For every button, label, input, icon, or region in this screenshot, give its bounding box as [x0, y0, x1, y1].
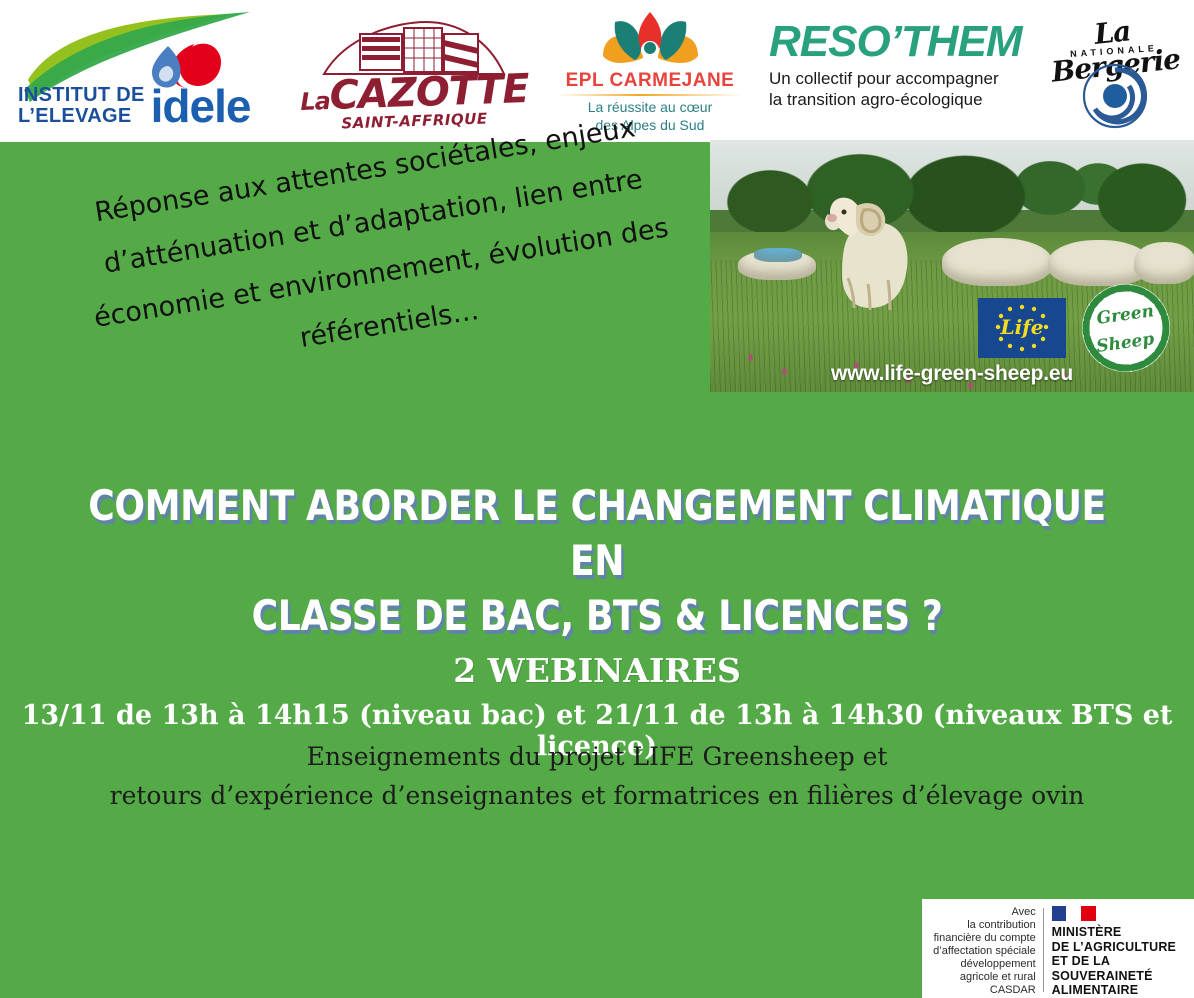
- idele-word: idele: [151, 85, 251, 127]
- idele-institute-line1: INSTITUT DE: [18, 85, 145, 106]
- sheep-background-right2: [1134, 242, 1194, 284]
- eu-life-label: Life: [1000, 315, 1044, 339]
- casdar-line-1: Avec: [922, 906, 1036, 919]
- casdar-line-4: d’affectation spéciale: [922, 945, 1036, 958]
- sheep-background-mid: [942, 238, 1052, 286]
- description-line-1: Enseignements du projet LIFE Greensheep …: [0, 742, 1194, 771]
- eu-stars-icon: Life: [978, 298, 1066, 358]
- french-flag-icon: [1052, 906, 1096, 921]
- casdar-line-6: agricole et rural: [922, 971, 1036, 984]
- intro-text-block: Réponse aux attentes sociétales, enjeux …: [40, 196, 690, 396]
- resothem-title: RESO’THEM: [769, 18, 1024, 66]
- description-line-2: retours d’expérience d’enseignantes et f…: [0, 781, 1194, 810]
- ministry-funding-block: Avec la contribution financière du compt…: [922, 899, 1194, 998]
- flag-band-red: [1081, 906, 1096, 921]
- ministry-name-line-1: MINISTÈRE: [1052, 925, 1194, 940]
- main-title: COMMENT ABORDER LE CHANGEMENT CLIMATIQUE…: [84, 478, 1111, 643]
- ministry-identity: MINISTÈRE DE L’AGRICULTURE ET DE LA SOUV…: [1044, 906, 1194, 998]
- ministry-name-line-3: ET DE LA SOUVERAINETÉ: [1052, 954, 1194, 983]
- idele-institute-line2: L’ELEVAGE: [18, 106, 145, 127]
- green-sheep-logo: Green Sheep: [1082, 284, 1170, 372]
- resothem-subtitle-line1: Un collectif pour accompagner: [769, 68, 1027, 89]
- logo-idele: INSTITUT DE L’ELEVAGE idele: [0, 0, 286, 142]
- casdar-line-2: la contribution: [922, 919, 1036, 932]
- logo-la-bergerie-nationale: La Bergerie NATIONALE: [1029, 0, 1194, 142]
- eu-life-logo: Life: [978, 298, 1066, 358]
- main-title-line-1: COMMENT ABORDER LE CHANGEMENT CLIMATIQUE…: [84, 478, 1111, 588]
- casdar-credit: Avec la contribution financière du compt…: [922, 906, 1043, 997]
- cazotte-prefix: La: [300, 87, 330, 116]
- logo-la-cazotte: LaCAZOTTE SAINT-AFFRIQUE: [286, 0, 541, 142]
- ram-illustration: [820, 192, 930, 317]
- idele-wordmark: INSTITUT DE L’ELEVAGE idele: [18, 85, 250, 127]
- sheep-pasture-photo: Life Green Sheep www.life-green-sheep.eu: [710, 140, 1194, 392]
- casdar-line-5: développement: [922, 958, 1036, 971]
- flag-band-white: [1066, 906, 1081, 921]
- logo-reso-them: RESO’THEM Un collectif pour accompagner …: [759, 0, 1029, 142]
- main-title-line-2: CLASSE DE BAC, BTS & LICENCES ?: [84, 588, 1111, 643]
- casdar-line-7: CASDAR: [922, 984, 1036, 997]
- carmejane-flower-icon: [593, 10, 708, 72]
- casdar-line-3: financière du compte: [922, 932, 1036, 945]
- ministry-name-line-4: ALIMENTAIRE: [1052, 983, 1194, 998]
- sheep-marked-left: [754, 248, 802, 262]
- resothem-subtitle-line2: la transition agro-écologique: [769, 89, 1027, 110]
- green-sheep-icon: Green Sheep: [1082, 284, 1170, 372]
- ministry-name-line-2: DE L’AGRICULTURE: [1052, 940, 1194, 955]
- bergerie-spiral-icon: [1081, 62, 1149, 130]
- flag-band-blue: [1052, 906, 1067, 921]
- carmejane-title: EPL CARMEJANE: [541, 70, 759, 92]
- meadow-flower: [748, 354, 753, 361]
- poster: INSTITUT DE L’ELEVAGE idele: [0, 0, 1194, 998]
- ministry-name: MINISTÈRE DE L’AGRICULTURE ET DE LA SOUV…: [1052, 925, 1194, 998]
- webinaires-count: 2 WEBINAIRES: [0, 651, 1194, 690]
- project-website-url[interactable]: www.life-green-sheep.eu: [710, 362, 1194, 386]
- resothem-subtitle: Un collectif pour accompagner la transit…: [769, 68, 1027, 110]
- carmejane-divider: [557, 94, 743, 96]
